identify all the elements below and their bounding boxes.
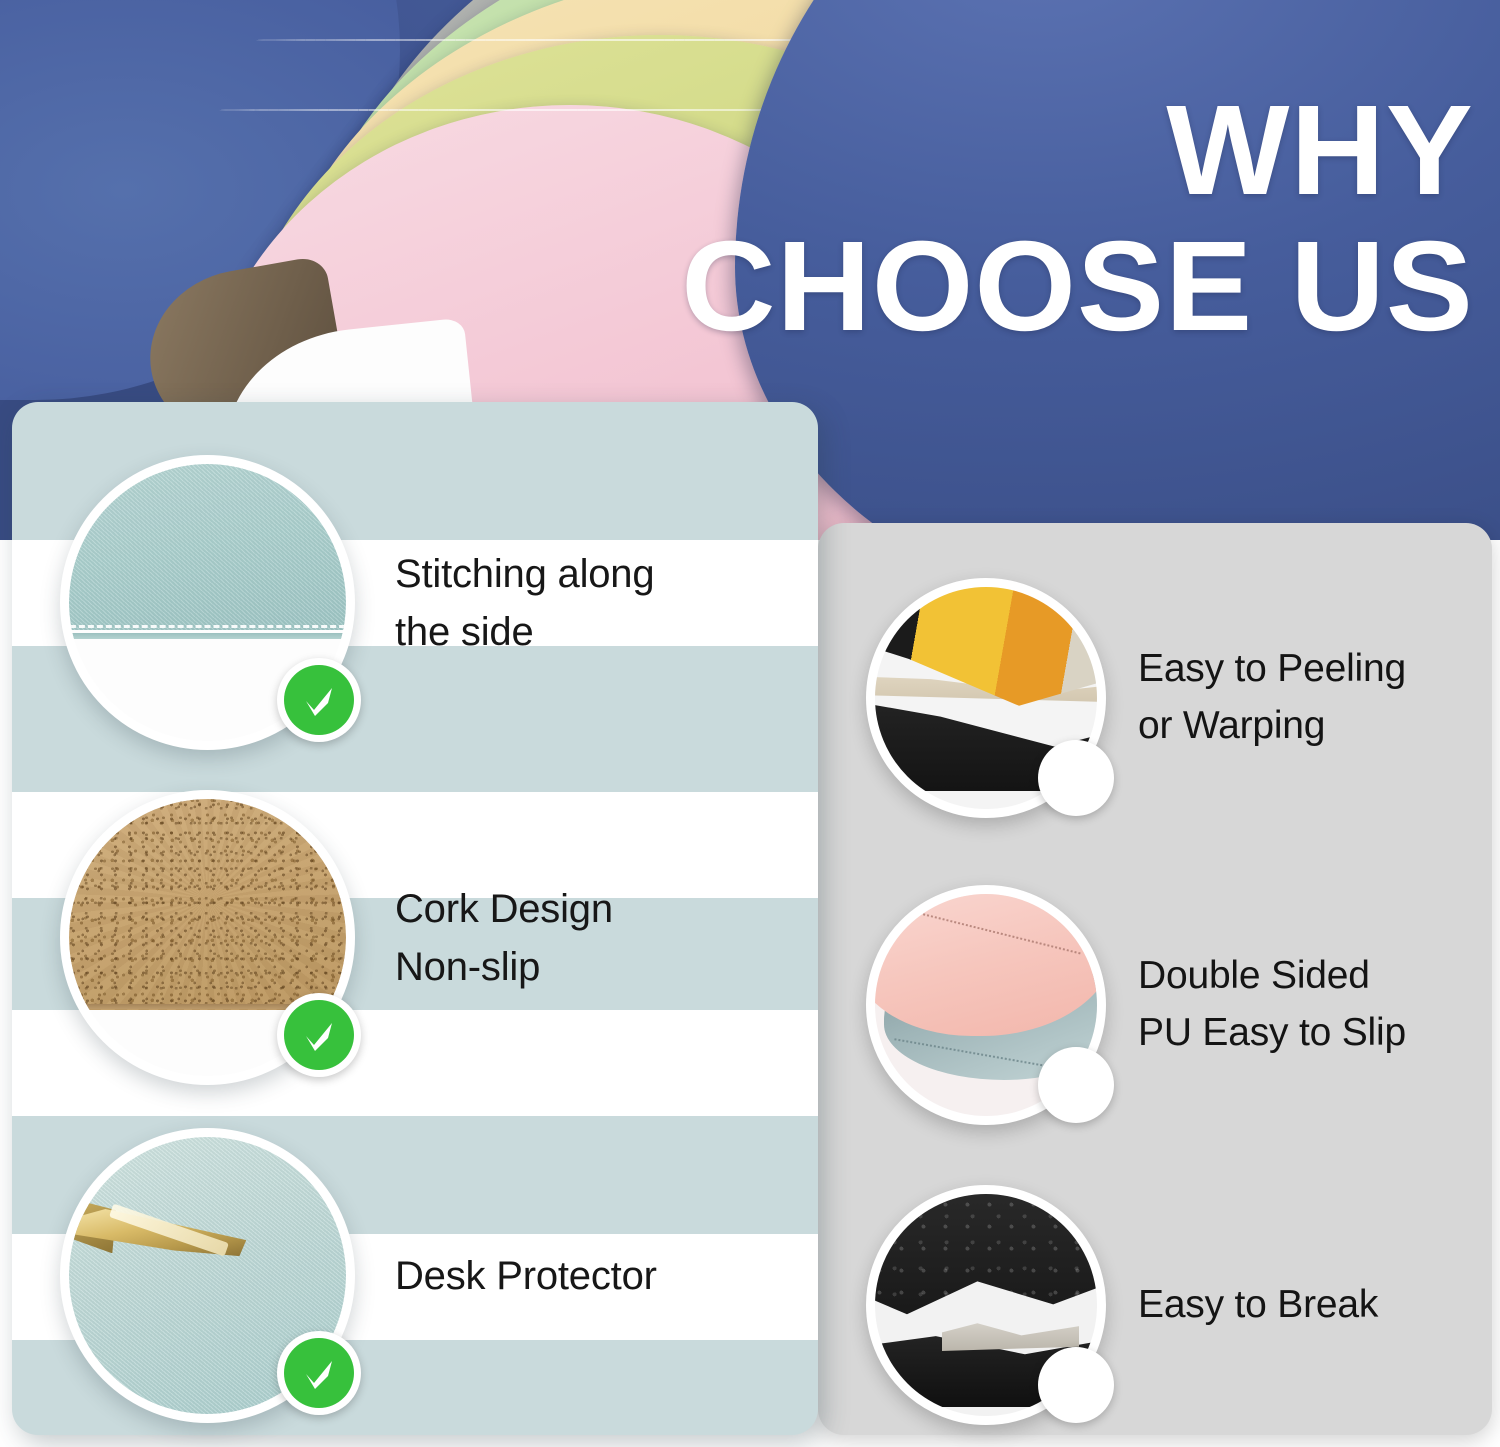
headline: WHY CHOOSE US [689,96,1466,342]
check-icon [284,1000,354,1070]
seam-band [69,633,346,639]
cross-icon [1045,1354,1107,1416]
con-list-item: Easy to Break [866,1185,1378,1425]
check-badge [277,993,361,1077]
pro-list-item: Cork Design Non-slip [60,790,613,1085]
check-badge [277,1331,361,1415]
cross-badge [1038,1347,1114,1423]
con-label: Double Sided PU Easy to Slip [1138,948,1406,1061]
headline-line-1: WHY [681,96,1474,206]
break-top-layer [866,1185,1106,1341]
cross-badge [1038,740,1114,816]
pro-label: Cork Design Non-slip [395,880,613,996]
mint-leather-surface [69,464,346,630]
infographic-canvas: WHY CHOOSE US [0,0,1500,1447]
con-list-item: Double Sided PU Easy to Slip [866,885,1406,1125]
pro-thumbnail-wrap [60,455,355,750]
pro-label: Desk Protector [395,1247,657,1305]
cross-icon [1045,747,1107,809]
cross-icon [1045,1054,1107,1116]
pro-label: Stitching along the side [395,545,654,661]
check-badge [277,658,361,742]
con-label: Easy to Break [1138,1277,1378,1334]
con-thumbnail-wrap [866,578,1106,818]
pro-list-item: Stitching along the side [60,455,654,750]
check-icon [284,1338,354,1408]
check-icon [284,665,354,735]
con-label: Easy to Peeling or Warping [1138,641,1406,754]
pro-list-item: Desk Protector [60,1128,657,1423]
con-thumbnail-wrap [866,885,1106,1125]
cork-texture [69,799,346,1010]
con-thumbnail-wrap [866,1185,1106,1425]
headline-line-2: CHOOSE US [681,232,1474,342]
stitch-dashes-icon [69,625,346,628]
con-list-item: Easy to Peeling or Warping [866,578,1406,818]
pro-thumbnail-wrap [60,790,355,1085]
cross-badge [1038,1047,1114,1123]
pro-thumbnail-wrap [60,1128,355,1423]
